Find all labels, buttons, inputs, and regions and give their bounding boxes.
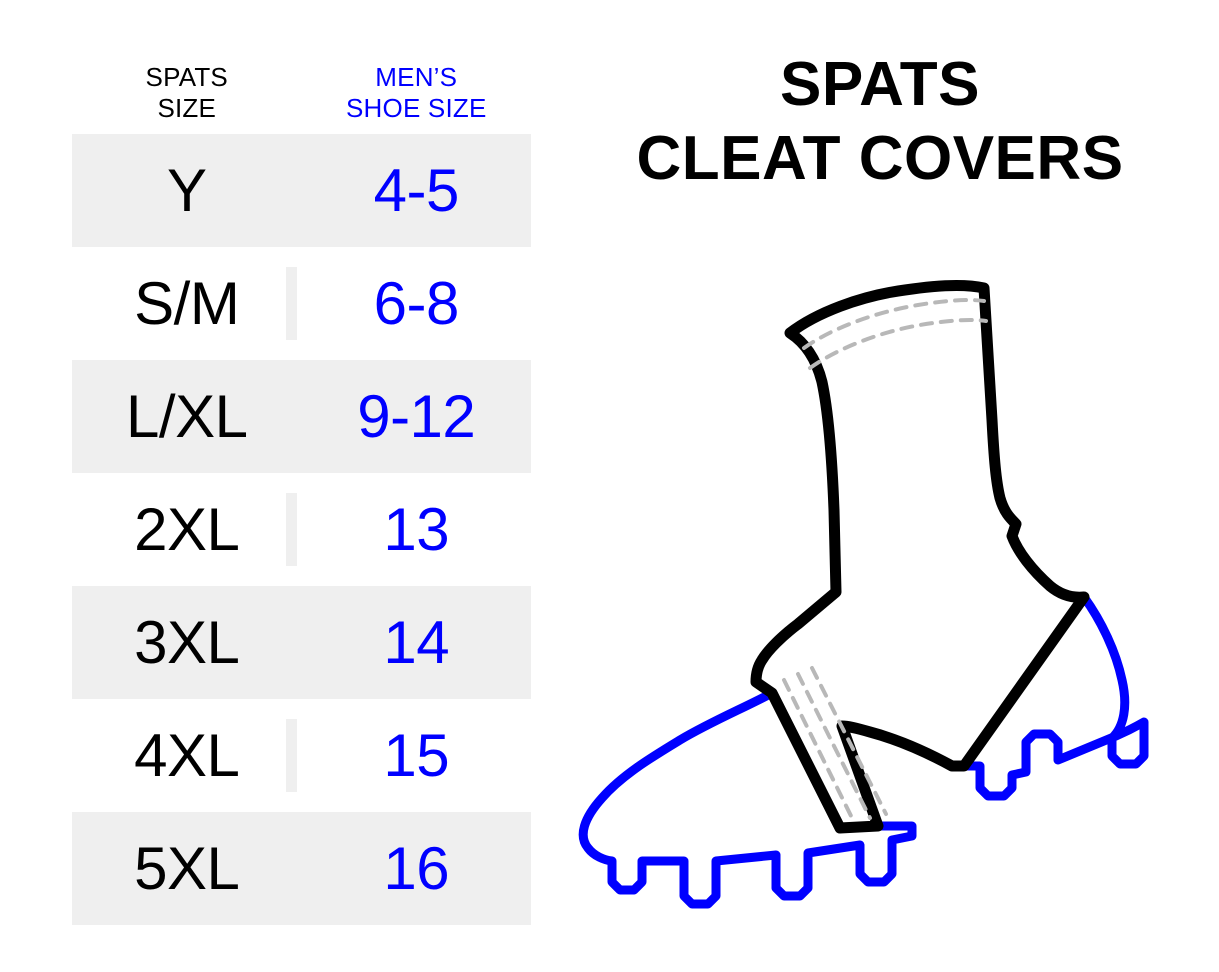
cell-spats-size: 5XL — [72, 837, 302, 901]
cell-shoe-size: 14 — [302, 611, 532, 675]
table-row: L/XL 9-12 — [72, 360, 531, 473]
cleat-heel-outline — [964, 597, 1144, 796]
cell-spats-size: S/M — [72, 272, 302, 336]
cleat-spat-illustration — [560, 270, 1180, 920]
table-row: 4XL 15 — [72, 699, 531, 812]
page-title-line2: CLEAT COVERS — [600, 122, 1160, 196]
cell-shoe-size: 16 — [302, 837, 532, 901]
cell-spats-size: L/XL — [72, 385, 302, 449]
column-header-spats-size: SPATS SIZE — [72, 56, 302, 134]
column-divider — [286, 493, 297, 566]
stitch-line-cuff-2 — [810, 320, 986, 368]
cell-shoe-size: 4-5 — [302, 159, 532, 223]
column-header-mens-shoe-size: MEN’S SHOE SIZE — [302, 56, 532, 134]
page-title: SPATS CLEAT COVERS — [600, 48, 1160, 196]
cell-shoe-size: 13 — [302, 498, 532, 562]
column-header-spats-size-line1: SPATS — [72, 62, 302, 93]
table-body: Y 4-5 S/M 6-8 L/XL 9-12 2XL 13 3XL 14 4X… — [72, 134, 531, 925]
table-row: 2XL 13 — [72, 473, 531, 586]
stitch-line-vamp-2 — [798, 674, 870, 818]
column-header-mens-shoe-size-line2: SHOE SIZE — [302, 93, 532, 124]
cell-spats-size: 4XL — [72, 724, 302, 788]
page-title-line1: SPATS — [600, 48, 1160, 122]
cleat-spat-svg — [560, 270, 1180, 920]
spat-cover-outline — [756, 286, 1084, 828]
table-row: S/M 6-8 — [72, 247, 531, 360]
cell-spats-size: 3XL — [72, 611, 302, 675]
cell-shoe-size: 6-8 — [302, 272, 532, 336]
cell-spats-size: 2XL — [72, 498, 302, 562]
table-header-row: SPATS SIZE MEN’S SHOE SIZE — [72, 56, 531, 134]
cell-spats-size: Y — [72, 159, 302, 223]
stitch-line-vamp-1 — [784, 680, 854, 822]
column-divider — [286, 719, 297, 792]
column-header-spats-size-line2: SIZE — [72, 93, 302, 124]
column-header-mens-shoe-size-line1: MEN’S — [302, 62, 532, 93]
cell-shoe-size: 9-12 — [302, 385, 532, 449]
column-divider — [286, 267, 297, 340]
table-row: 5XL 16 — [72, 812, 531, 925]
table-row: Y 4-5 — [72, 134, 531, 247]
size-chart-table: SPATS SIZE MEN’S SHOE SIZE Y 4-5 S/M 6-8… — [72, 56, 531, 925]
table-row: 3XL 14 — [72, 586, 531, 699]
cell-shoe-size: 15 — [302, 724, 532, 788]
